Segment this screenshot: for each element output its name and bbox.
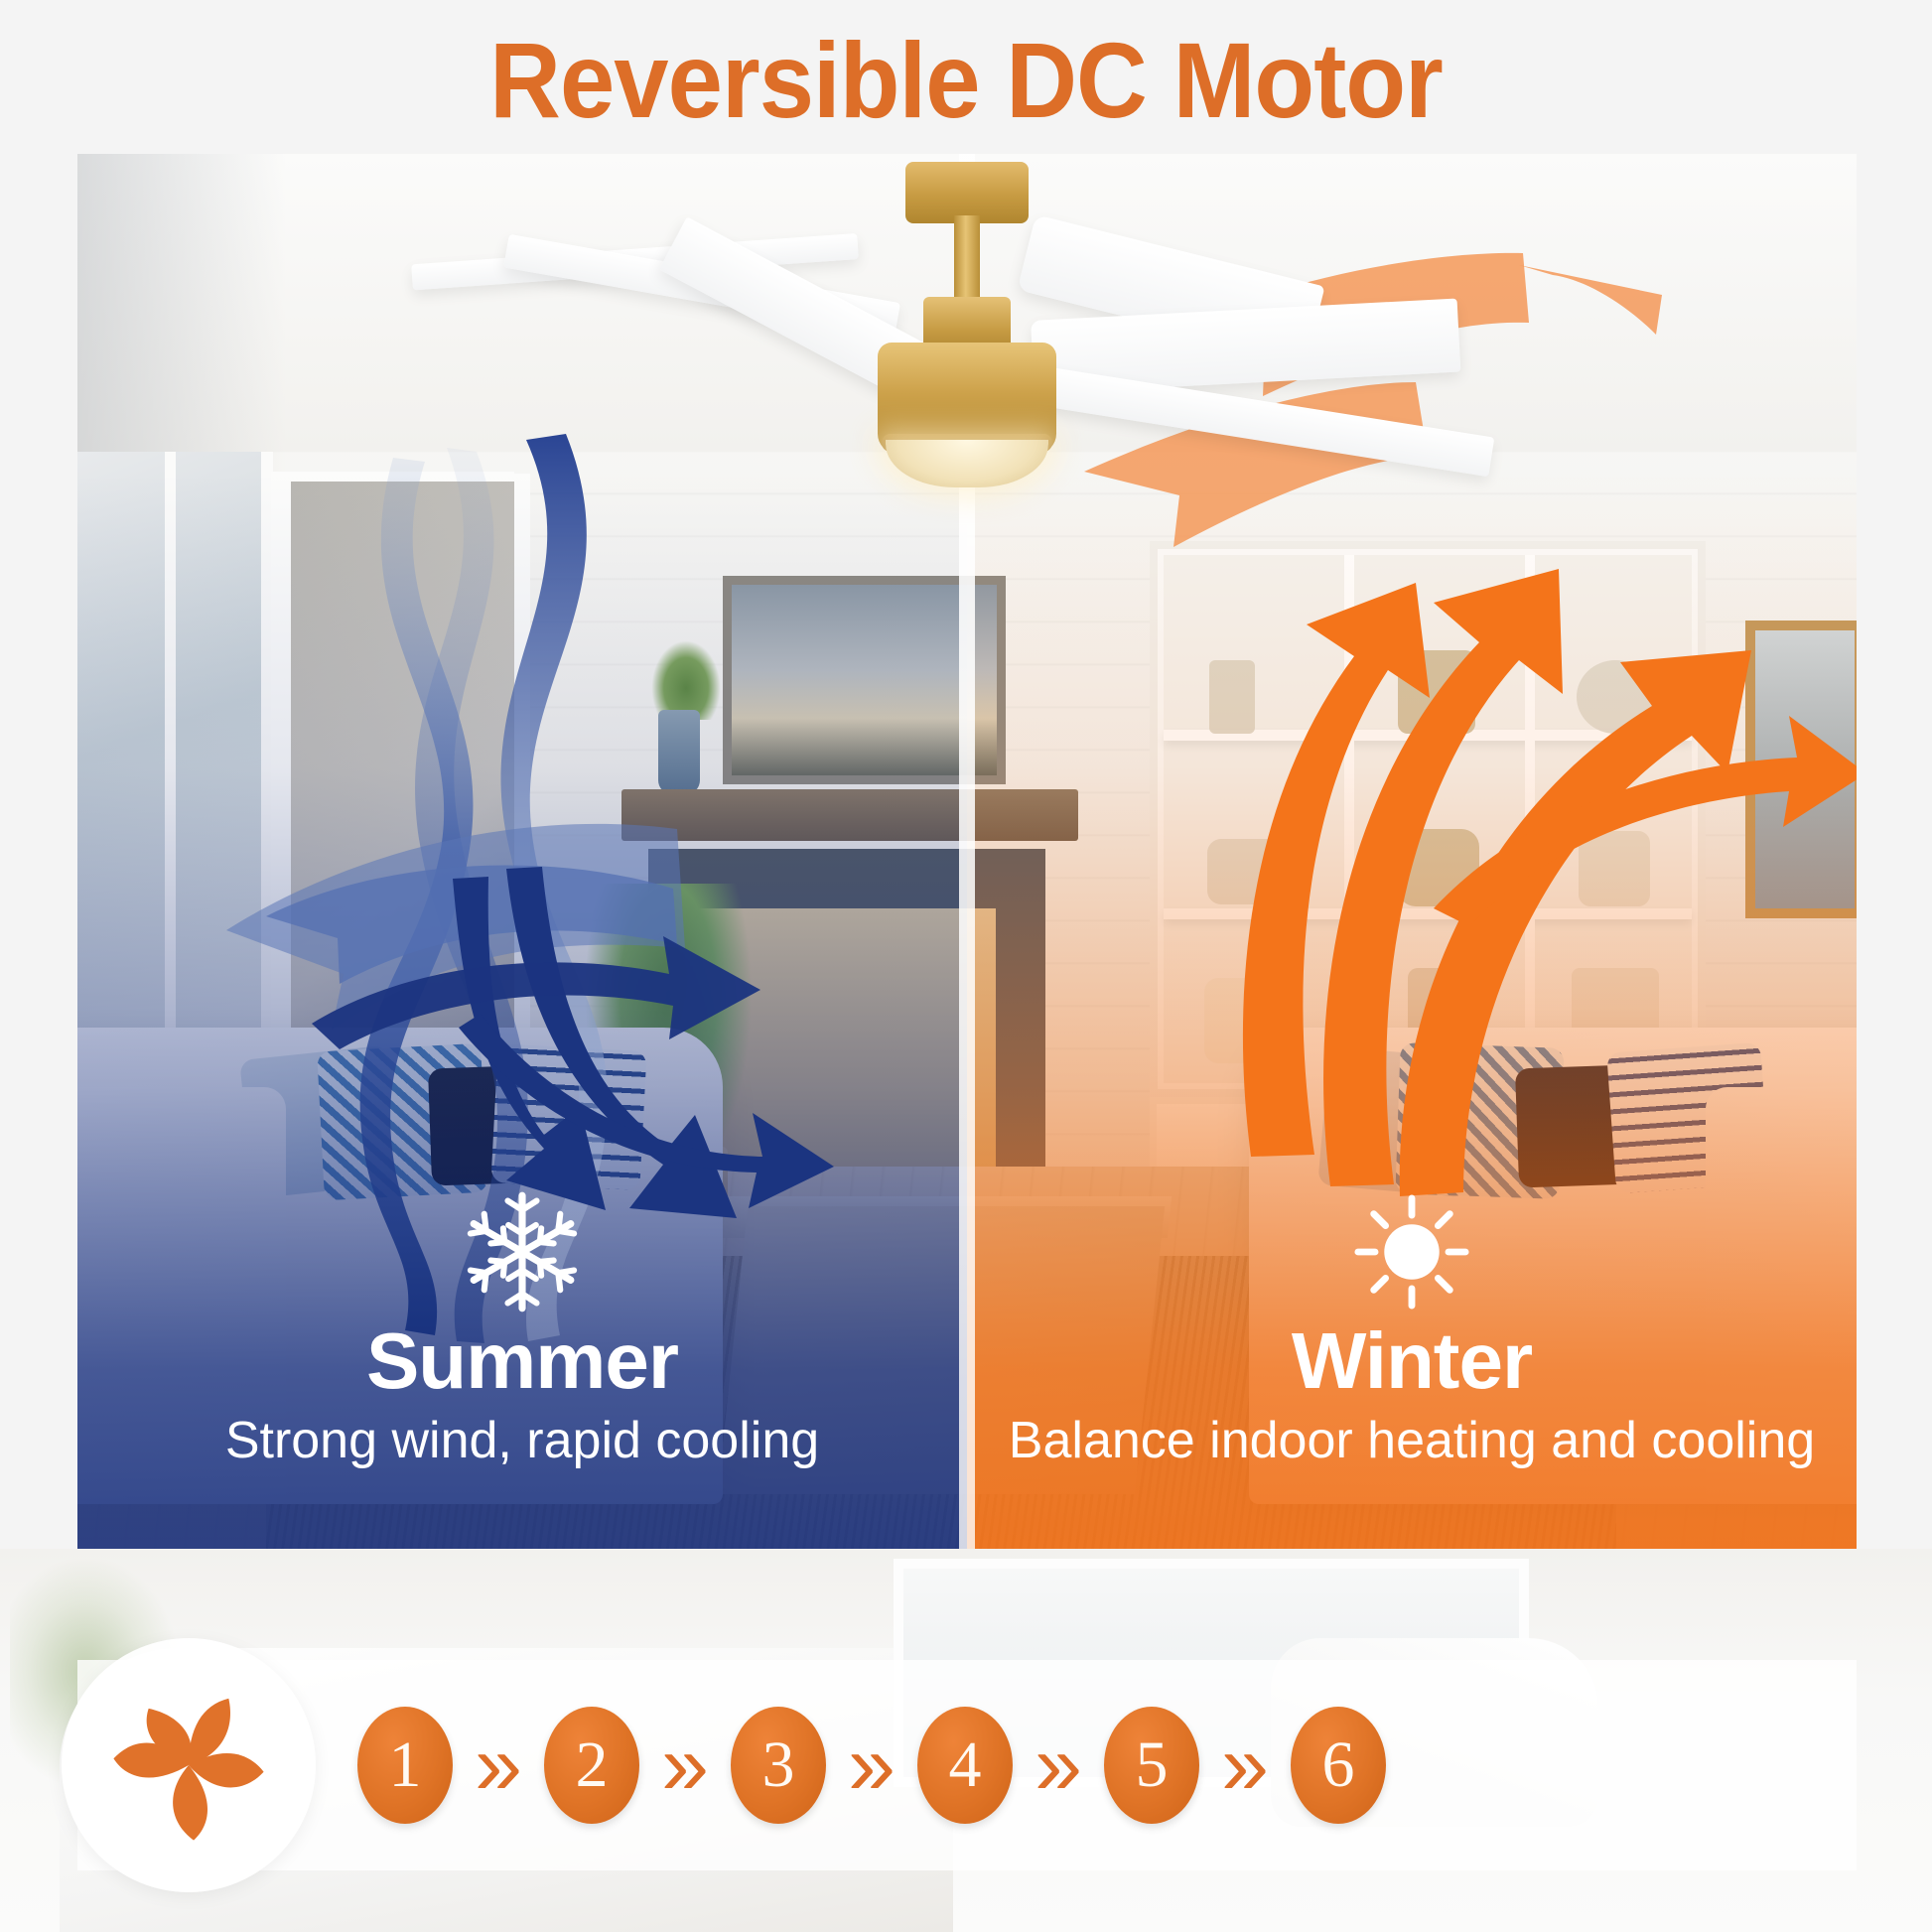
step-separator-icon: » xyxy=(1013,1723,1104,1808)
winter-label-block: Winter Balance indoor heating and coolin… xyxy=(967,1186,1857,1466)
page-title: Reversible DC Motor xyxy=(77,18,1855,142)
step-indicator-6[interactable]: 6 xyxy=(1291,1707,1386,1824)
fan-downrod xyxy=(954,215,980,301)
summer-caption: Strong wind, rapid cooling xyxy=(77,1415,967,1466)
step-separator-icon: » xyxy=(639,1723,731,1808)
step-separator-icon: » xyxy=(826,1723,917,1808)
step-separator-icon: » xyxy=(1199,1723,1291,1808)
winter-caption: Balance indoor heating and cooling xyxy=(967,1415,1857,1466)
pinwheel-fan-icon xyxy=(105,1682,272,1849)
winter-heading: Winter xyxy=(967,1321,1857,1401)
summer-label-block: Summer Strong wind, rapid cooling xyxy=(77,1186,967,1466)
step-indicator-3[interactable]: 3 xyxy=(731,1707,826,1824)
step-indicator-2[interactable]: 2 xyxy=(544,1707,639,1824)
summer-panel: Summer Strong wind, rapid cooling xyxy=(77,154,967,1653)
step-indicator-4[interactable]: 4 xyxy=(917,1707,1013,1824)
airflow-arrow-left xyxy=(1519,265,1662,335)
step-indicator-1[interactable]: 1 xyxy=(357,1707,453,1824)
step-separator-icon: » xyxy=(453,1723,544,1808)
snowflake-icon xyxy=(77,1186,967,1317)
brand-logo[interactable] xyxy=(62,1638,316,1892)
winter-orange-tint xyxy=(967,472,1857,1653)
summer-heading: Summer xyxy=(77,1321,967,1401)
step-indicator-list: 1 » 2 » 3 » 4 » 5 » 6 xyxy=(357,1660,1807,1870)
summer-blue-tint xyxy=(77,472,967,1653)
sun-icon xyxy=(967,1186,1857,1317)
product-hero-panel: Summer Strong wind, rapid cooling xyxy=(77,154,1857,1653)
step-indicator-5[interactable]: 5 xyxy=(1104,1707,1199,1824)
fan-canopy xyxy=(905,162,1029,223)
